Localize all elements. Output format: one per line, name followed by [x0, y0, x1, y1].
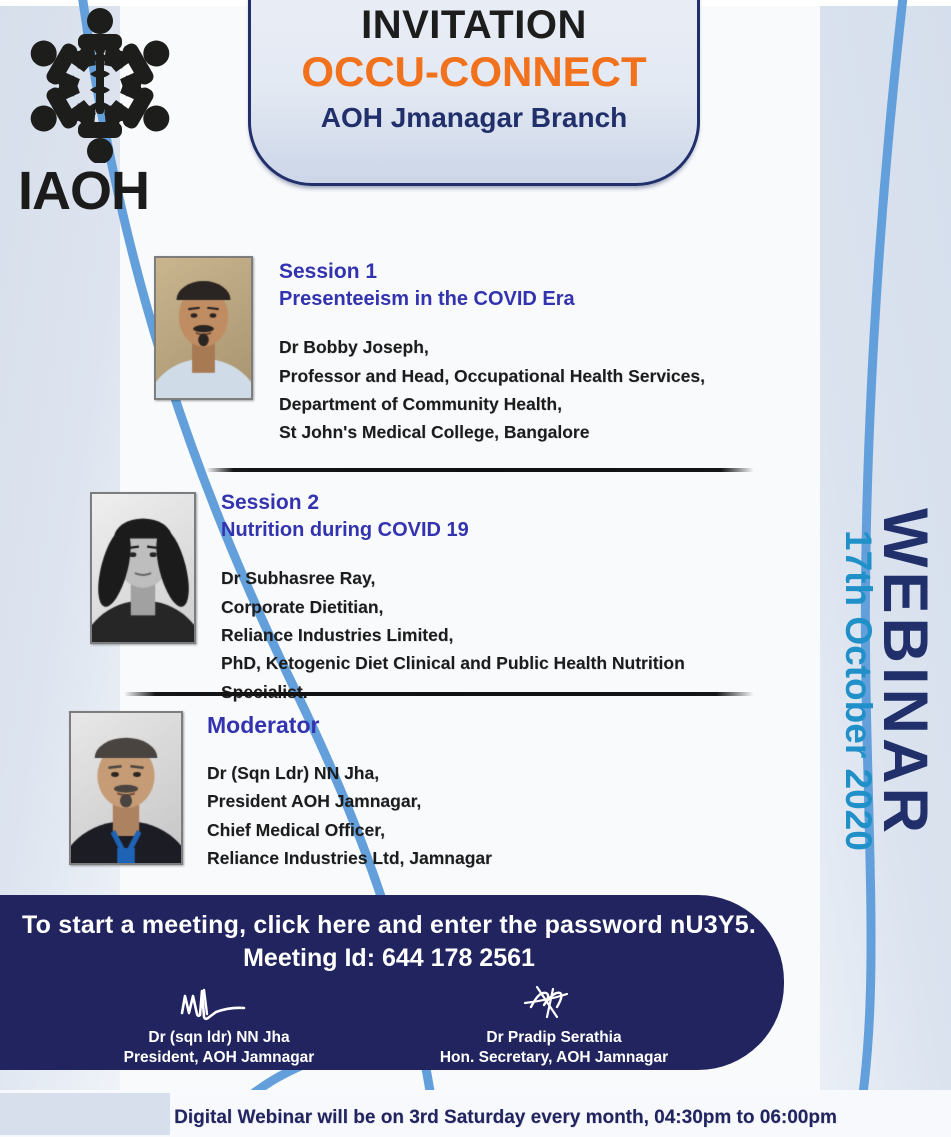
- session-2-detail-line: Dr Subhasree Ray,: [221, 564, 761, 592]
- moderator-detail-line: President AOH Jamnagar,: [207, 787, 747, 815]
- moderator-detail-line: Chief Medical Officer,: [207, 816, 747, 844]
- vertical-webinar-strip: WEBINAR 17th October 2020: [823, 0, 951, 1137]
- session-2-detail-line: Corporate Dietitian,: [221, 593, 761, 621]
- webinar-invitation-poster: IAOH INVITATION OCCU-CONNECT AOH Jmanaga…: [0, 0, 951, 1137]
- meeting-info-panel: To start a meeting, click here and enter…: [0, 895, 784, 1070]
- session-1-detail-line: Professor and Head, Occupational Health …: [279, 362, 779, 390]
- signatory-role: President, AOH Jamnagar: [54, 1048, 384, 1068]
- session-1-speaker-photo: [154, 256, 253, 400]
- pradip-serathia-signature-icon: [479, 983, 629, 1021]
- webinar-date: 17th October 2020: [837, 530, 879, 851]
- moderator-detail-line: Dr (Sqn Ldr) NN Jha,: [207, 759, 747, 787]
- moderator-photo: [69, 711, 183, 865]
- meeting-instruction[interactable]: To start a meeting, click here and enter…: [0, 911, 784, 940]
- signatory-name: Dr Pradip Serathia: [374, 1028, 734, 1048]
- organization-logo: IAOH: [14, 8, 204, 213]
- webinar-label: WEBINAR: [869, 508, 941, 837]
- divider-2: [124, 692, 754, 696]
- header-banner: INVITATION OCCU-CONNECT AOH Jmanagar Bra…: [248, 0, 700, 186]
- session-2-detail-line: PhD, Ketogenic Diet Clinical and Public …: [221, 649, 761, 706]
- program-title: OCCU-CONNECT: [251, 50, 697, 94]
- session-1-detail-line: Dr Bobby Joseph,: [279, 333, 779, 361]
- session-2-detail-line: Reliance Industries Limited,: [221, 621, 761, 649]
- logo-acronym: IAOH: [18, 160, 149, 222]
- signature-block: Dr Pradip Serathia Hon. Secretary, AOH J…: [374, 983, 734, 1068]
- moderator-details: Dr (Sqn Ldr) NN Jha, President AOH Jamna…: [207, 759, 747, 872]
- session-1-label: Session 1: [279, 258, 779, 286]
- moderator-label: Moderator: [207, 712, 747, 739]
- moderator-detail-line: Reliance Industries Ltd, Jamnagar: [207, 844, 747, 872]
- signatory-role: Hon. Secretary, AOH Jamnagar: [374, 1048, 734, 1068]
- invitation-title: INVITATION: [251, 4, 697, 46]
- session-2-speaker-photo: [90, 492, 196, 644]
- session-2-label: Session 2: [221, 489, 761, 517]
- schedule-note: Digital Webinar will be on 3rd Saturday …: [0, 1107, 951, 1129]
- iaoh-hexagon-caduceus-logo: [20, 8, 180, 163]
- session-2-topic: Nutrition during COVID 19: [221, 517, 761, 544]
- meeting-id: Meeting Id: 644 178 2561: [0, 944, 784, 973]
- signature-block: Dr (sqn ldr) NN Jha President, AOH Jamna…: [54, 983, 384, 1068]
- session-2-details: Dr Subhasree Ray, Corporate Dietitian, R…: [221, 564, 761, 706]
- nn-jha-signature-icon: [144, 983, 294, 1021]
- divider-1: [206, 468, 754, 472]
- session-1-topic: Presenteeism in the COVID Era: [279, 286, 779, 313]
- session-1-details: Dr Bobby Joseph, Professor and Head, Occ…: [279, 333, 779, 446]
- signature-row: Dr (sqn ldr) NN Jha President, AOH Jamna…: [0, 983, 784, 1068]
- session-1-detail-line: Department of Community Health,: [279, 390, 779, 418]
- branch-subtitle: AOH Jmanagar Branch: [251, 102, 697, 134]
- session-1-detail-line: St John's Medical College, Bangalore: [279, 418, 779, 446]
- signatory-name: Dr (sqn ldr) NN Jha: [54, 1028, 384, 1048]
